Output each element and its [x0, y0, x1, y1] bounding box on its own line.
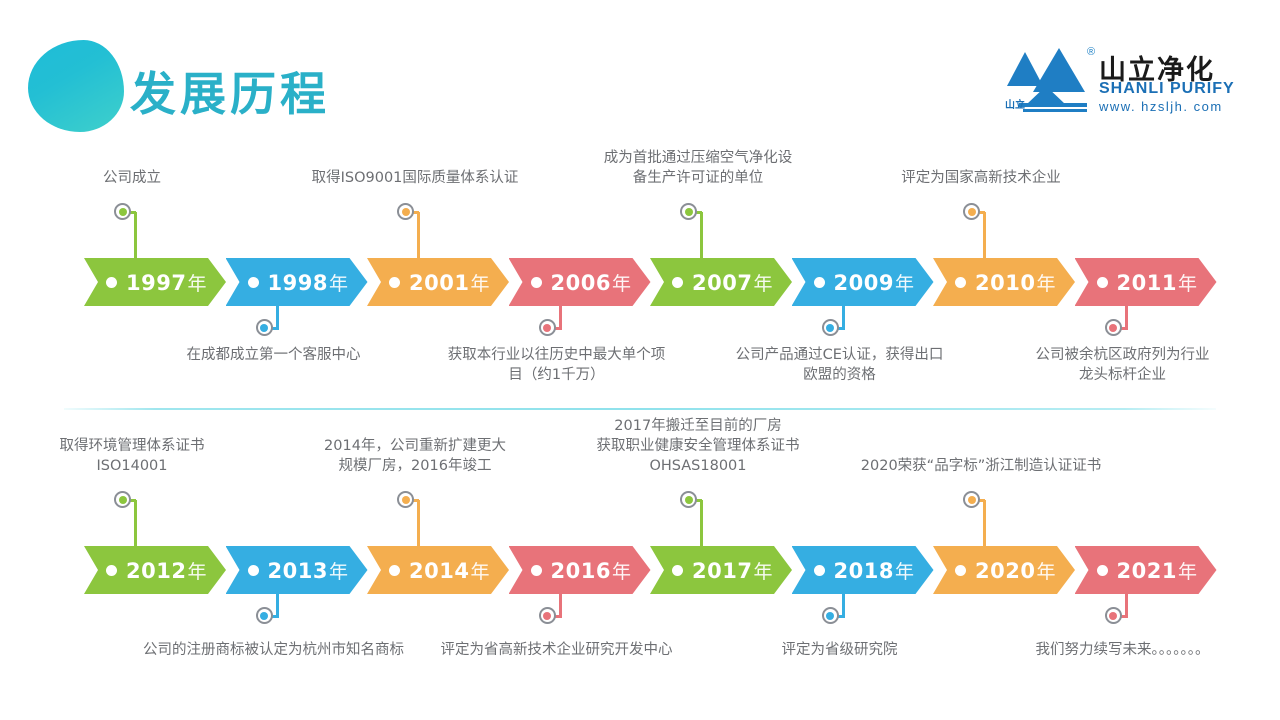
- marker-core-icon: [119, 208, 127, 216]
- page-title: 发展历程: [130, 58, 330, 124]
- segment-bullet-icon: [106, 277, 117, 288]
- segment-bullet-icon: [248, 565, 259, 576]
- connector-vertical-line: [417, 212, 420, 262]
- marker-core-icon: [402, 496, 410, 504]
- timeline-segment-2010[interactable]: 2010年: [933, 258, 1075, 306]
- segment-year-suffix: 年: [612, 273, 632, 295]
- segment-year-label: 2021年: [1117, 557, 1198, 584]
- marker-core-icon: [1109, 612, 1117, 620]
- marker-core-icon: [260, 324, 268, 332]
- marker-core-icon: [968, 208, 976, 216]
- timeline-marker-2009[interactable]: [822, 319, 839, 336]
- timeline-caption-2009: 公司产品通过CE认证，获得出口 欧盟的资格: [690, 345, 990, 385]
- segment-year-suffix: 年: [187, 273, 207, 295]
- timeline-segment-1998[interactable]: 1998年: [226, 258, 368, 306]
- segment-year-suffix: 年: [753, 273, 773, 295]
- timeline-marker-2011[interactable]: [1105, 319, 1122, 336]
- marker-core-icon: [968, 496, 976, 504]
- segment-year-suffix: 年: [895, 273, 915, 295]
- marker-core-icon: [685, 496, 693, 504]
- segment-year-label: 2010年: [975, 269, 1056, 296]
- timeline-caption-1997: 公司成立: [0, 168, 282, 188]
- segment-bullet-icon: [1097, 565, 1108, 576]
- segment-year-suffix: 年: [1178, 561, 1198, 583]
- segment-year-label: 2013年: [268, 557, 349, 584]
- timeline-segment-2011[interactable]: 2011年: [1075, 258, 1217, 306]
- segment-bullet-icon: [814, 277, 825, 288]
- segment-year-label: 2016年: [551, 557, 632, 584]
- timeline-marker-1998[interactable]: [256, 319, 273, 336]
- segment-bullet-icon: [1097, 277, 1108, 288]
- timeline-marker-2014[interactable]: [397, 491, 414, 508]
- timeline-segment-2021[interactable]: 2021年: [1075, 546, 1217, 594]
- timeline-caption-2016: 评定为省高新技术企业研究开发中心: [407, 640, 707, 660]
- segment-year-suffix: 年: [470, 561, 490, 583]
- marker-core-icon: [543, 612, 551, 620]
- segment-year-suffix: 年: [1178, 273, 1198, 295]
- marker-core-icon: [119, 496, 127, 504]
- connector-vertical-line: [700, 500, 703, 550]
- timeline-caption-2012: 取得环境管理体系证书 ISO14001: [0, 436, 282, 476]
- timeline-caption-1998: 在成都成立第一个客服中心: [124, 345, 424, 365]
- segment-bullet-icon: [531, 565, 542, 576]
- timeline-caption-2006: 获取本行业以往历史中最大单个项 目（约1千万）: [407, 345, 707, 385]
- marker-core-icon: [826, 324, 834, 332]
- slide-canvas: 发展历程 山立 ® 山立净化 SHANLI PURIFY www. hzsljh…: [0, 0, 1280, 720]
- timeline-caption-2014: 2014年，公司重新扩建更大 规模厂房，2016年竣工: [265, 436, 565, 476]
- connector-vertical-line: [983, 212, 986, 262]
- marker-core-icon: [826, 612, 834, 620]
- timeline-segment-2001[interactable]: 2001年: [367, 258, 509, 306]
- timeline-caption-2011: 公司被余杭区政府列为行业 龙头标杆企业: [973, 345, 1273, 385]
- timeline-segment-2009[interactable]: 2009年: [792, 258, 934, 306]
- segment-year-suffix: 年: [612, 561, 632, 583]
- timeline-marker-2012[interactable]: [114, 491, 131, 508]
- segment-year-label: 2020年: [975, 557, 1056, 584]
- timeline-marker-2016[interactable]: [539, 607, 556, 624]
- decorative-blob: [28, 40, 124, 132]
- timeline-marker-2020[interactable]: [963, 491, 980, 508]
- connector-vertical-line: [417, 500, 420, 550]
- timeline-marker-1997[interactable]: [114, 203, 131, 220]
- timeline-caption-2017: 2017年搬迁至目前的厂房 获取职业健康安全管理体系证书 OHSAS18001: [548, 416, 848, 476]
- logo-website: www. hzsljh. com: [1099, 99, 1223, 114]
- timeline-segment-2014[interactable]: 2014年: [367, 546, 509, 594]
- segment-year-suffix: 年: [470, 273, 490, 295]
- registered-trademark-icon: ®: [1087, 46, 1095, 58]
- timeline-marker-2017[interactable]: [680, 491, 697, 508]
- connector-vertical-line: [983, 500, 986, 550]
- timeline-marker-2018[interactable]: [822, 607, 839, 624]
- timeline-marker-2021[interactable]: [1105, 607, 1122, 624]
- segment-year-label: 2012年: [126, 557, 207, 584]
- timeline-marker-2001[interactable]: [397, 203, 414, 220]
- segment-year-suffix: 年: [329, 561, 349, 583]
- segment-year-suffix: 年: [329, 273, 349, 295]
- segment-year-label: 2009年: [834, 269, 915, 296]
- segment-year-suffix: 年: [895, 561, 915, 583]
- timeline-caption-2018: 评定为省级研究院: [690, 640, 990, 660]
- segment-year-label: 2006年: [551, 269, 632, 296]
- timeline-caption-2010: 评定为国家高新技术企业: [831, 168, 1131, 188]
- segment-year-label: 1998年: [268, 269, 349, 296]
- marker-core-icon: [260, 612, 268, 620]
- segment-year-label: 2018年: [834, 557, 915, 584]
- timeline-segment-2013[interactable]: 2013年: [226, 546, 368, 594]
- timeline-segment-2018[interactable]: 2018年: [792, 546, 934, 594]
- timeline-marker-2010[interactable]: [963, 203, 980, 220]
- segment-bullet-icon: [814, 565, 825, 576]
- timeline-bar: 1997年1998年2001年2006年2007年2009年2010年2011年: [0, 258, 1280, 306]
- timeline-segment-2016[interactable]: 2016年: [509, 546, 651, 594]
- segment-bullet-icon: [389, 277, 400, 288]
- segment-year-suffix: 年: [1036, 273, 1056, 295]
- segment-bullet-icon: [955, 277, 966, 288]
- timeline-segment-2012[interactable]: 2012年: [84, 546, 226, 594]
- connector-vertical-line: [134, 500, 137, 550]
- timeline-segment-2020[interactable]: 2020年: [933, 546, 1075, 594]
- segment-year-label: 2017年: [692, 557, 773, 584]
- timeline-marker-2007[interactable]: [680, 203, 697, 220]
- segment-year-label: 1997年: [126, 269, 207, 296]
- segment-year-label: 2014年: [409, 557, 490, 584]
- segment-bullet-icon: [106, 565, 117, 576]
- timeline-caption-2013: 公司的注册商标被认定为杭州市知名商标: [124, 640, 424, 660]
- logo-name-en: SHANLI PURIFY: [1099, 80, 1235, 98]
- company-logo: 山立 ® 山立净化 SHANLI PURIFY www. hzsljh. com: [1003, 44, 1218, 120]
- timeline-caption-2001: 取得ISO9001国际质量体系认证: [265, 168, 565, 188]
- segment-bullet-icon: [389, 565, 400, 576]
- section-divider: [64, 408, 1216, 410]
- timeline-caption-2020: 2020荣获“品字标”浙江制造认证证书: [831, 456, 1131, 476]
- segment-bullet-icon: [672, 565, 683, 576]
- timeline-segment-1997[interactable]: 1997年: [84, 258, 226, 306]
- timeline-segment-2017[interactable]: 2017年: [650, 546, 792, 594]
- connector-vertical-line: [700, 212, 703, 262]
- marker-core-icon: [543, 324, 551, 332]
- timeline-segment-2006[interactable]: 2006年: [509, 258, 651, 306]
- timeline-caption-2021: 我们努力续写未来。。。。。。。: [973, 640, 1273, 660]
- segment-year-suffix: 年: [1036, 561, 1056, 583]
- segment-year-label: 2011年: [1117, 269, 1198, 296]
- timeline-marker-2013[interactable]: [256, 607, 273, 624]
- timeline-segment-2007[interactable]: 2007年: [650, 258, 792, 306]
- segment-bullet-icon: [955, 565, 966, 576]
- timeline-caption-2007: 成为首批通过压缩空气净化设 备生产许可证的单位: [548, 148, 848, 188]
- connector-vertical-line: [134, 212, 137, 262]
- logo-sub-mark: 山立: [1005, 96, 1025, 111]
- segment-year-label: 2001年: [409, 269, 490, 296]
- marker-core-icon: [402, 208, 410, 216]
- marker-core-icon: [1109, 324, 1117, 332]
- segment-year-label: 2007年: [692, 269, 773, 296]
- timeline-bar: 2012年2013年2014年2016年2017年2018年2020年2021年: [0, 546, 1280, 594]
- segment-bullet-icon: [248, 277, 259, 288]
- segment-year-suffix: 年: [753, 561, 773, 583]
- marker-core-icon: [685, 208, 693, 216]
- segment-bullet-icon: [531, 277, 542, 288]
- segment-year-suffix: 年: [187, 561, 207, 583]
- timeline-marker-2006[interactable]: [539, 319, 556, 336]
- segment-bullet-icon: [672, 277, 683, 288]
